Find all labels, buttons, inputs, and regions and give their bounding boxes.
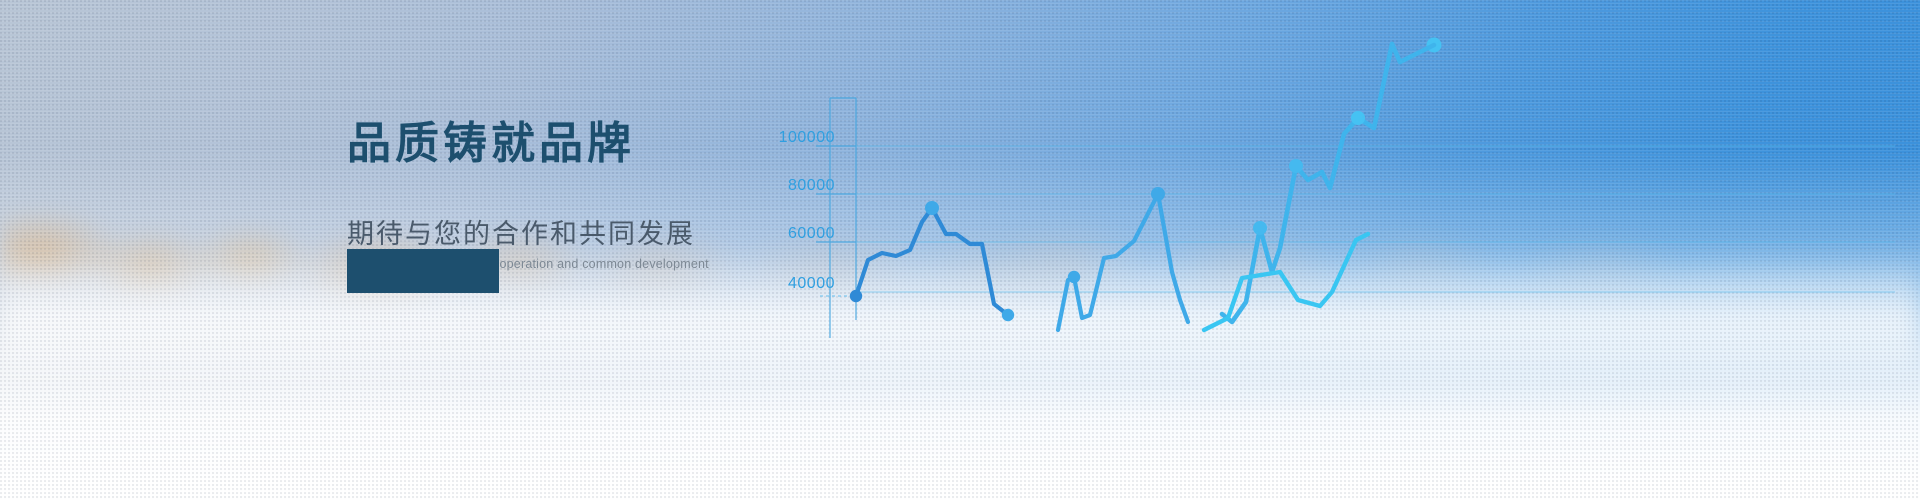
- line-chart: 100000 80000 60000 40000: [760, 0, 1920, 500]
- series-2-marker-peak: [1151, 187, 1165, 201]
- series-1-marker-peak: [925, 201, 939, 215]
- y-axis-tick-labels: 100000 80000 60000 40000: [779, 129, 835, 292]
- series-3-line: [1222, 38, 1442, 323]
- series-3-marker-2: [1289, 159, 1303, 173]
- chart-gridlines: [820, 146, 1895, 296]
- series-1-marker-start: [850, 290, 862, 302]
- series-1-line: [850, 201, 1014, 321]
- series-2-line: [1058, 187, 1188, 330]
- y-tick-60000: 60000: [788, 225, 835, 242]
- series-1-marker-end: [1002, 309, 1014, 321]
- y-tick-80000: 80000: [788, 177, 835, 194]
- series-3-marker-3: [1351, 111, 1365, 125]
- series-4-extension: [1204, 326, 1212, 330]
- y-tick-100000: 100000: [779, 129, 835, 146]
- y-tick-40000: 40000: [788, 275, 835, 292]
- series-3-marker-1: [1253, 221, 1267, 235]
- series-2-marker-low: [1068, 271, 1080, 283]
- banner-cta-button[interactable]: [347, 249, 499, 293]
- hero-banner: 品质铸就品牌 期待与您的合作和共同发展 Looking forward to y…: [0, 0, 1920, 500]
- series-4-line: [1212, 234, 1368, 326]
